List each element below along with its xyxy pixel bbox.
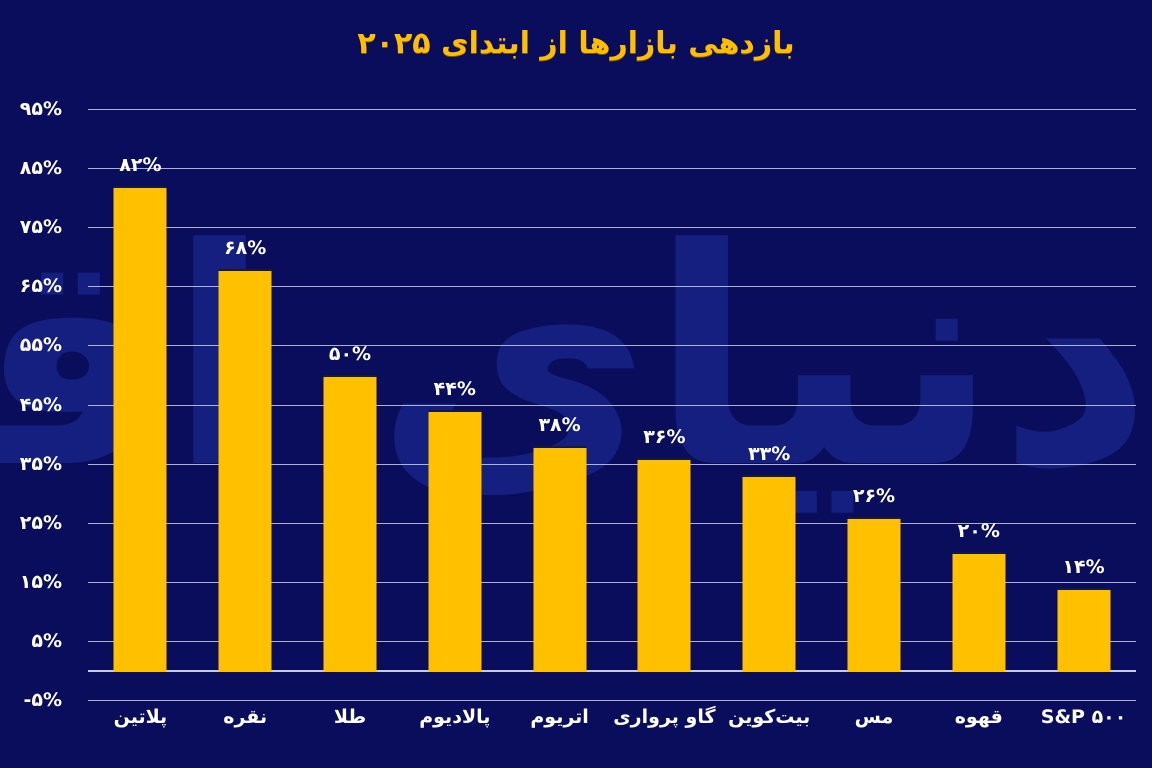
y-axis-tick: ۵۵% (0, 334, 62, 356)
bar-slot[interactable]: ۶۸% (193, 109, 298, 700)
bar[interactable] (114, 186, 167, 673)
bar-slot[interactable]: ۴۴% (402, 109, 507, 700)
bar[interactable] (219, 269, 272, 673)
x-axis-label: پلاتین (88, 706, 193, 728)
bar-slot[interactable]: ۳۳% (717, 109, 822, 700)
y-axis-tick: ۶۵% (0, 275, 62, 297)
bar-slot[interactable]: ۲۰% (926, 109, 1031, 700)
bar-value-label: ۸۲% (119, 154, 161, 176)
bar[interactable] (323, 375, 376, 673)
bar-value-label: ۳۳% (748, 443, 790, 465)
y-axis-tick: ۲۵% (0, 512, 62, 534)
bar[interactable] (952, 552, 1005, 672)
bar-value-label: ۳۶% (643, 426, 685, 448)
chart-canvas: دنیای اقتصاد بازدهی بازارها از ابتدای ۲۰… (0, 0, 1152, 768)
bar-value-label: ۴۴% (434, 378, 476, 400)
bar-slot[interactable]: ۵۰% (298, 109, 403, 700)
bar-slot[interactable]: ۲۶% (822, 109, 927, 700)
gridline (88, 700, 1136, 701)
bar[interactable] (638, 458, 691, 673)
x-axis-label: مس (822, 706, 927, 728)
x-axis-label: گاو پرواری (612, 706, 717, 728)
x-axis-label: بیت‌کوین (717, 706, 822, 728)
bar-value-label: ۳۸% (538, 414, 580, 436)
bar-value-label: ۵۰% (329, 343, 371, 365)
y-axis-tick: ۱۵% (0, 571, 62, 593)
bar[interactable] (743, 475, 796, 672)
bar-series: ۸۲%۶۸%۵۰%۴۴%۳۸%۳۶%۳۳%۲۶%۲۰%۱۴% (88, 109, 1136, 700)
x-axis-label: پالادیوم (402, 706, 507, 728)
y-axis-tick: ۹۵% (0, 98, 62, 120)
y-axis-tick: -۵% (0, 689, 62, 711)
bar-value-label: ۲۰% (958, 520, 1000, 542)
x-axis-label: اتریوم (507, 706, 612, 728)
bar-slot[interactable]: ۸۲% (88, 109, 193, 700)
y-axis-tick: ۸۵% (0, 157, 62, 179)
bar-slot[interactable]: ۳۸% (507, 109, 612, 700)
x-axis-label: طلا (298, 706, 403, 728)
bar[interactable] (1057, 588, 1110, 673)
chart-title: بازدهی بازارها از ابتدای ۲۰۲۵ (0, 26, 1152, 61)
x-axis-labels: پلاتیننقرهطلاپالادیوماتریومگاو پرواریبیت… (88, 706, 1136, 762)
bar-value-label: ۶۸% (224, 237, 266, 259)
bar-slot[interactable]: ۱۴% (1031, 109, 1136, 700)
y-axis-tick: ۳۵% (0, 453, 62, 475)
bar-value-label: ۲۶% (853, 485, 895, 507)
x-axis-label: S&P ۵۰۰ (1031, 706, 1136, 728)
bar-slot[interactable]: ۳۶% (612, 109, 717, 700)
y-axis-tick: ۷۵% (0, 216, 62, 238)
bar[interactable] (533, 446, 586, 673)
y-axis-tick: ۴۵% (0, 394, 62, 416)
x-axis-label: نقره (193, 706, 298, 728)
x-axis-label: قهوه (926, 706, 1031, 728)
bar[interactable] (428, 410, 481, 672)
bar[interactable] (847, 517, 900, 673)
y-axis-tick: ۵% (0, 630, 62, 652)
bar-value-label: ۱۴% (1062, 556, 1104, 578)
